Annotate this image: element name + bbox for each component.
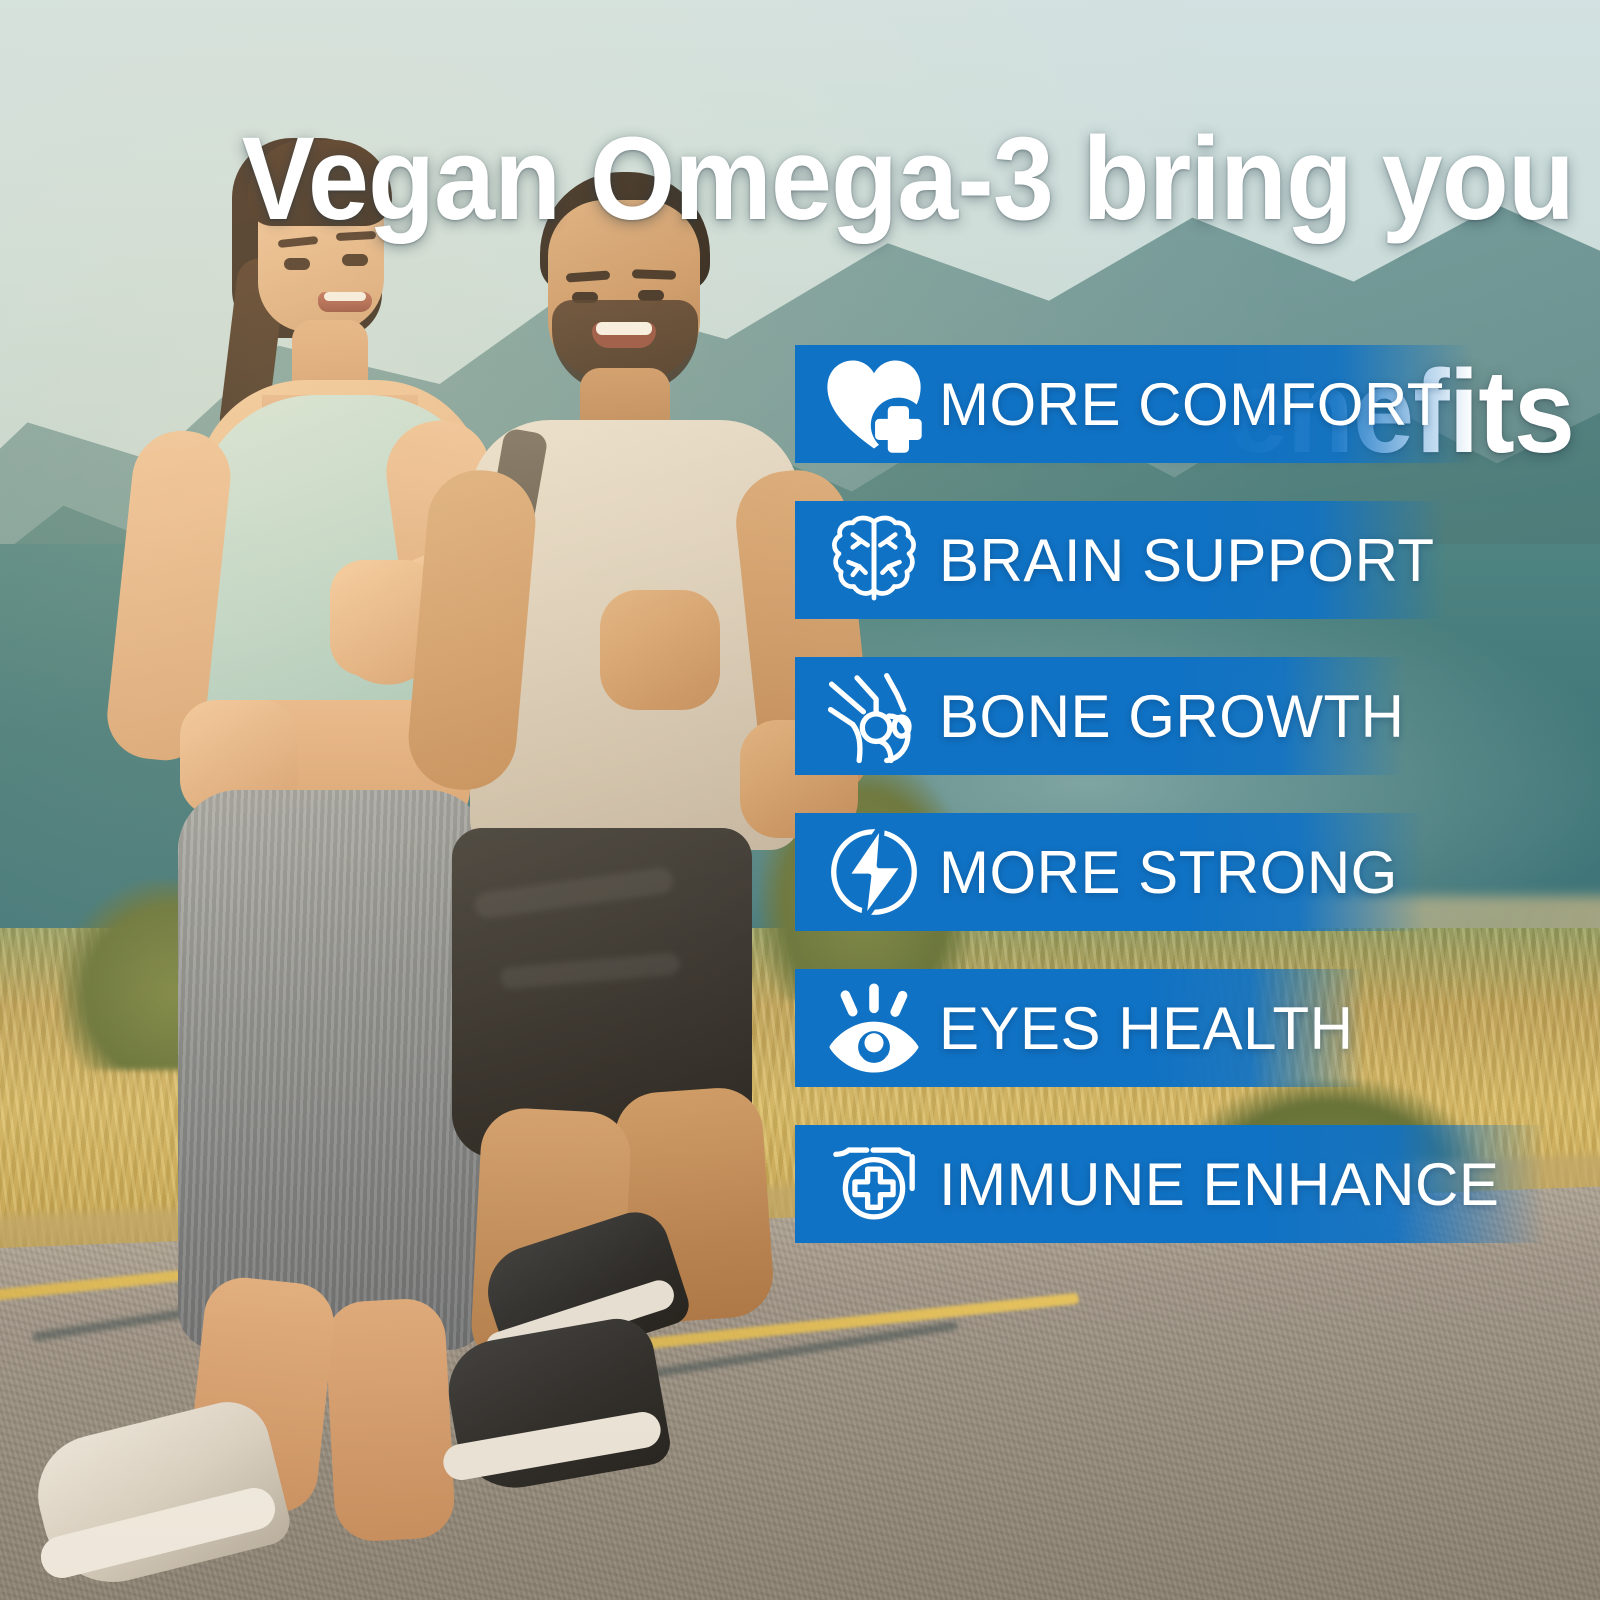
woman-rear-shin — [324, 1297, 456, 1543]
benefit-label: BRAIN SUPPORT — [939, 526, 1435, 595]
woman-teeth — [324, 292, 366, 301]
woman-leggings-texture — [178, 790, 488, 1350]
lightning-bolt-icon — [809, 819, 939, 925]
woman-hairline — [248, 140, 392, 226]
benefit-bar-more-strong[interactable]: MORE STRONG — [795, 813, 1555, 931]
benefit-bar-brain-support[interactable]: BRAIN SUPPORT — [795, 501, 1555, 619]
benefit-label: MORE STRONG — [939, 838, 1398, 907]
man-left-fist — [600, 590, 720, 710]
benefit-bar-eyes-health[interactable]: EYES HEALTH — [795, 969, 1555, 1087]
brain-icon — [809, 507, 939, 613]
eye-icon — [809, 975, 939, 1081]
woman-eye — [284, 258, 310, 270]
promo-banner: Vegan Omega-3 bring you more benefits MO… — [0, 0, 1600, 1600]
benefit-bar-immune-enhance[interactable]: IMMUNE ENHANCE — [795, 1125, 1555, 1243]
benefits-list: MORE COMFORT BRAIN SUPPOR — [795, 345, 1555, 1281]
bone-joint-icon — [809, 663, 939, 769]
shield-plus-icon — [809, 1131, 939, 1237]
man-eyebrow — [632, 269, 676, 280]
man-teeth — [596, 322, 652, 335]
heart-plus-icon — [809, 351, 939, 457]
benefit-bar-more-comfort[interactable]: MORE COMFORT — [795, 345, 1555, 463]
benefit-bar-bone-growth[interactable]: BONE GROWTH — [795, 657, 1555, 775]
benefit-label: MORE COMFORT — [939, 370, 1444, 439]
benefit-label: IMMUNE ENHANCE — [939, 1150, 1499, 1219]
benefit-label: EYES HEALTH — [939, 994, 1354, 1063]
benefit-label: BONE GROWTH — [939, 682, 1405, 751]
woman-eye — [342, 254, 368, 266]
